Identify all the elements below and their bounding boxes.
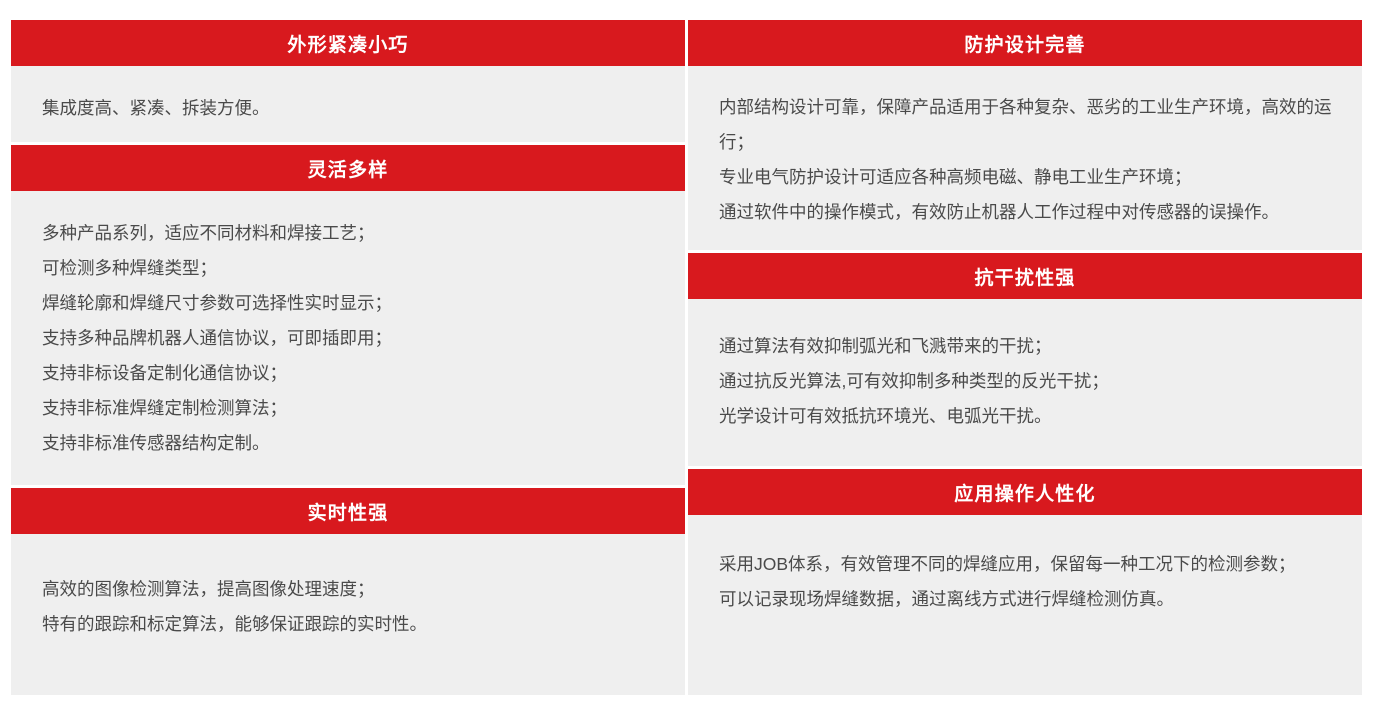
feature-line: 可以记录现场焊缝数据，通过离线方式进行焊缝检测仿真。 [719,582,1332,617]
feature-body-compact-design: 集成度高、紧凑、拆装方便。 [11,66,685,142]
feature-line: 通过算法有效抑制弧光和飞溅带来的干扰； [719,329,1332,364]
feature-line: 支持多种品牌机器人通信协议，可即插即用； [42,321,655,356]
feature-line: 集成度高、紧凑、拆装方便。 [42,91,655,126]
left-feature-column: 外形紧凑小巧 集成度高、紧凑、拆装方便。 灵活多样 多种产品系列，适应不同材料和… [11,20,685,695]
feature-block-flexible-variety: 灵活多样 多种产品系列，适应不同材料和焊接工艺； 可检测多种焊缝类型； 焊缝轮廓… [11,145,685,485]
feature-body-user-friendly: 采用JOB体系，有效管理不同的焊缝应用，保留每一种工况下的检测参数； 可以记录现… [688,515,1362,695]
feature-line: 通过抗反光算法,可有效抑制多种类型的反光干扰； [719,364,1332,399]
feature-line: 焊缝轮廓和焊缝尺寸参数可选择性实时显示； [42,286,655,321]
feature-block-anti-interference: 抗干扰性强 通过算法有效抑制弧光和飞溅带来的干扰； 通过抗反光算法,可有效抑制多… [688,253,1362,466]
feature-line: 高效的图像检测算法，提高图像处理速度； [42,572,655,607]
feature-line: 专业电气防护设计可适应各种高频电磁、静电工业生产环境； [719,160,1332,195]
feature-line: 支持非标准焊缝定制检测算法； [42,391,655,426]
feature-line: 采用JOB体系，有效管理不同的焊缝应用，保留每一种工况下的检测参数； [719,547,1332,582]
feature-line: 通过软件中的操作模式，有效防止机器人工作过程中对传感器的误操作。 [719,195,1332,230]
feature-block-protection-design: 防护设计完善 内部结构设计可靠，保障产品适用于各种复杂、恶劣的工业生产环境，高效… [688,20,1362,250]
feature-title-protection-design: 防护设计完善 [688,20,1362,66]
feature-body-flexible-variety: 多种产品系列，适应不同材料和焊接工艺； 可检测多种焊缝类型； 焊缝轮廓和焊缝尺寸… [11,191,685,485]
feature-title-user-friendly: 应用操作人性化 [688,469,1362,515]
feature-title-anti-interference: 抗干扰性强 [688,253,1362,299]
feature-title-compact-design: 外形紧凑小巧 [11,20,685,66]
feature-line: 内部结构设计可靠，保障产品适用于各种复杂、恶劣的工业生产环境，高效的运行； [719,90,1332,160]
feature-body-anti-interference: 通过算法有效抑制弧光和飞溅带来的干扰； 通过抗反光算法,可有效抑制多种类型的反光… [688,299,1362,466]
feature-body-protection-design: 内部结构设计可靠，保障产品适用于各种复杂、恶劣的工业生产环境，高效的运行； 专业… [688,66,1362,250]
right-feature-column: 防护设计完善 内部结构设计可靠，保障产品适用于各种复杂、恶劣的工业生产环境，高效… [688,20,1362,695]
feature-title-flexible-variety: 灵活多样 [11,145,685,191]
feature-line: 可检测多种焊缝类型； [42,251,655,286]
feature-board: 外形紧凑小巧 集成度高、紧凑、拆装方便。 灵活多样 多种产品系列，适应不同材料和… [11,20,1362,695]
feature-line: 特有的跟踪和标定算法，能够保证跟踪的实时性。 [42,607,655,642]
feature-block-user-friendly: 应用操作人性化 采用JOB体系，有效管理不同的焊缝应用，保留每一种工况下的检测参… [688,469,1362,695]
feature-line: 支持非标准传感器结构定制。 [42,426,655,461]
feature-line: 光学设计可有效抵抗环境光、电弧光干扰。 [719,399,1332,434]
feature-title-realtime: 实时性强 [11,488,685,534]
feature-block-compact-design: 外形紧凑小巧 集成度高、紧凑、拆装方便。 [11,20,685,142]
feature-line: 支持非标设备定制化通信协议； [42,356,655,391]
feature-body-realtime: 高效的图像检测算法，提高图像处理速度； 特有的跟踪和标定算法，能够保证跟踪的实时… [11,534,685,695]
feature-line: 多种产品系列，适应不同材料和焊接工艺； [42,216,655,251]
feature-block-realtime: 实时性强 高效的图像检测算法，提高图像处理速度； 特有的跟踪和标定算法，能够保证… [11,488,685,695]
